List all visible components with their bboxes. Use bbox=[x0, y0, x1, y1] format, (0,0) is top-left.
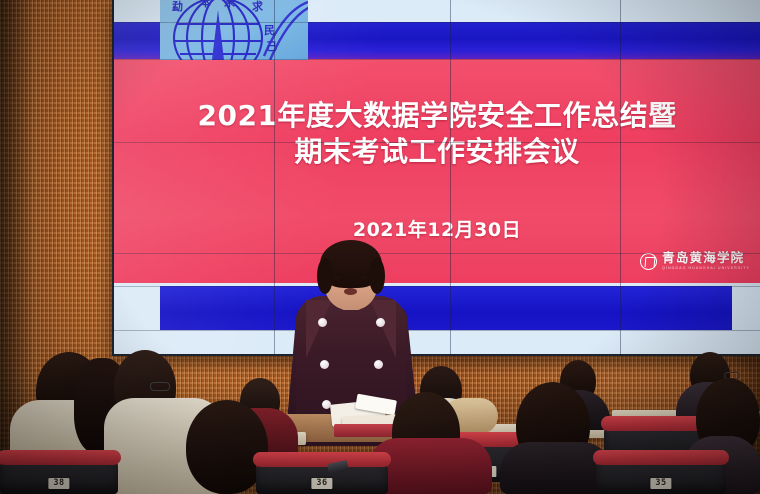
audience-chair: 36 bbox=[256, 454, 388, 494]
eyeglasses bbox=[150, 382, 170, 391]
people-layer: 31 38 36 35 bbox=[0, 0, 760, 494]
seat-number: 38 bbox=[48, 478, 69, 489]
presenter-lapel-right bbox=[370, 300, 396, 358]
presenter-lapel-left bbox=[306, 300, 332, 358]
seat-number: 36 bbox=[311, 478, 332, 489]
seat-number: 35 bbox=[650, 478, 671, 489]
red-folder bbox=[334, 424, 398, 437]
presenter-hair bbox=[320, 240, 382, 288]
audience-chair: 38 bbox=[0, 452, 118, 494]
lecture-hall-photo: 勐 本 末 求 民 己 2021年度大数据学院安全工作总结暨 期末考试工作安排会… bbox=[0, 0, 760, 494]
audience-chair: 35 bbox=[596, 452, 726, 494]
presenter-mouth bbox=[344, 288, 357, 295]
